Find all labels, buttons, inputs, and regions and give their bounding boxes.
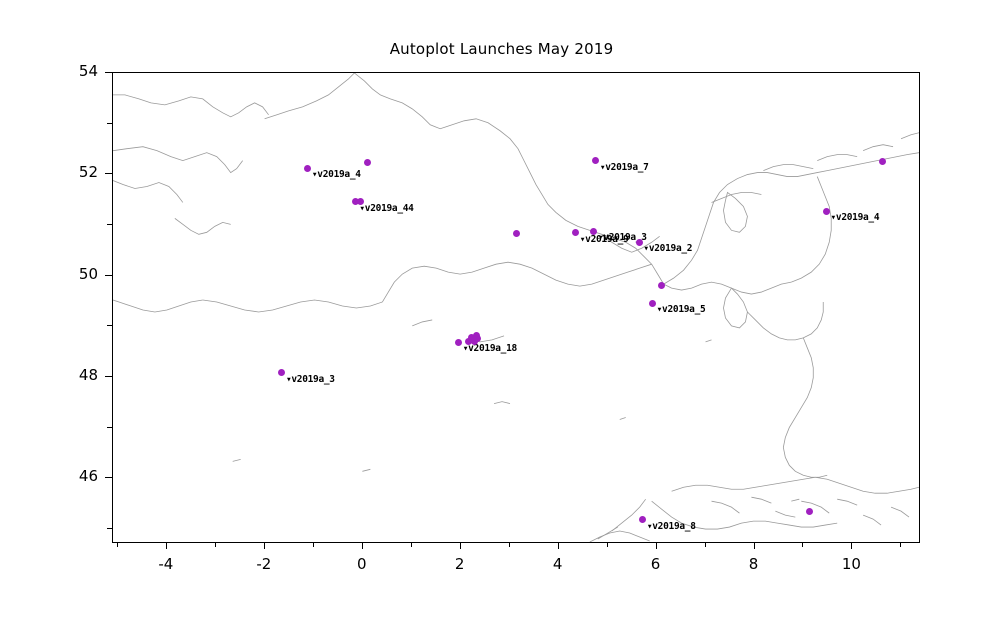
data-point-marker[interactable] [357, 198, 364, 205]
x-axis-minor-tick [411, 543, 412, 547]
data-point-marker[interactable] [513, 230, 520, 237]
data-point-label: ▾v2019a_4 [830, 212, 879, 223]
x-axis-minor-tick [509, 543, 510, 547]
y-axis-tick-label: 48 [38, 366, 98, 384]
data-point-marker[interactable] [590, 228, 597, 235]
y-axis-minor-tick [107, 427, 112, 428]
y-axis-minor-tick [107, 224, 112, 225]
x-axis-tick [362, 543, 363, 549]
coastline-layer [113, 73, 919, 542]
data-point-label: ▾v2019a_44 [359, 203, 413, 214]
x-axis-tick [264, 543, 265, 549]
y-axis-minor-tick [107, 325, 112, 326]
x-axis-tick-label: 0 [332, 555, 392, 573]
x-axis-tick [558, 543, 559, 549]
x-axis-tick-label: -4 [136, 555, 196, 573]
y-axis-tick-label: 46 [38, 467, 98, 485]
data-point-marker[interactable] [806, 508, 813, 515]
x-axis-tick [166, 543, 167, 549]
x-axis-tick-label: 4 [528, 555, 588, 573]
y-axis-tick-label: 50 [38, 265, 98, 283]
x-axis-minor-tick [313, 543, 314, 547]
x-axis-tick [656, 543, 657, 549]
data-point-label: ▾v2019a_8 [647, 521, 696, 532]
x-axis-tick [754, 543, 755, 549]
x-axis-tick-label: 2 [430, 555, 490, 573]
x-axis-tick-label: 6 [626, 555, 686, 573]
y-axis-tick-label: 52 [38, 163, 98, 181]
data-point-marker[interactable] [879, 158, 886, 165]
y-axis-tick [105, 275, 112, 276]
x-axis-minor-tick [802, 543, 803, 547]
data-point-marker[interactable] [465, 338, 472, 345]
x-axis-tick [460, 543, 461, 549]
map-plot-area[interactable]: ▾v2019a_4▾v2019a_44▾v2019a_3▾v2019a_7▾v2… [112, 72, 920, 543]
y-axis-tick [105, 72, 112, 73]
x-axis-tick-label: 8 [724, 555, 784, 573]
x-axis-tick [851, 543, 852, 549]
y-axis-minor-tick [107, 528, 112, 529]
chart-title: Autoplot Launches May 2019 [0, 40, 1003, 58]
y-axis-tick [105, 477, 112, 478]
x-axis-minor-tick [215, 543, 216, 547]
y-axis-tick [105, 173, 112, 174]
x-axis-minor-tick [117, 543, 118, 547]
x-axis-tick-label: 10 [821, 555, 881, 573]
x-axis-minor-tick [900, 543, 901, 547]
x-axis-minor-tick [705, 543, 706, 547]
x-axis-minor-tick [607, 543, 608, 547]
data-point-label: ▾v2019a_5 [657, 304, 706, 315]
matplotlib-figure: Autoplot Launches May 2019 [0, 0, 1003, 633]
x-axis-tick-label: -2 [234, 555, 294, 573]
data-point-marker[interactable] [649, 300, 656, 307]
data-point-label: ▾v2019a_4 [312, 169, 361, 180]
data-point-label: ▾v2019a_2 [643, 243, 692, 254]
y-axis-tick [105, 376, 112, 377]
data-point-label: ▾v2019a_3 [286, 374, 335, 385]
data-point-marker[interactable] [823, 208, 830, 215]
y-axis-tick-label: 54 [38, 62, 98, 80]
data-point-label: ▾v2019a_7 [600, 162, 649, 173]
data-point-label: ▾v2019a_18 [463, 343, 517, 354]
data-point-marker[interactable] [471, 338, 478, 345]
y-axis-minor-tick [107, 123, 112, 124]
data-point-marker[interactable] [636, 239, 643, 246]
